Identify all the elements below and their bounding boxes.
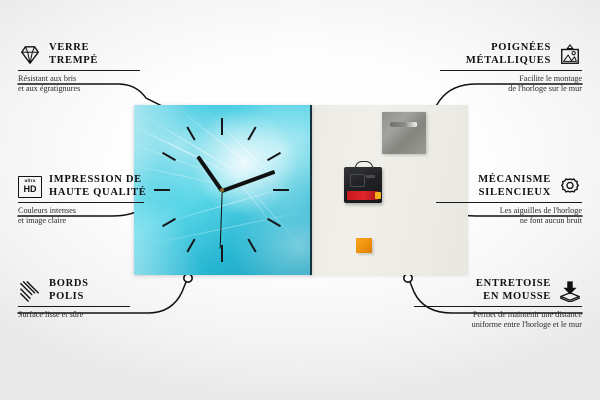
callout-mecanisme-silencieux: MÉCANISME SILENCIEUX Les aiguilles de l'…	[436, 174, 582, 226]
callout-title-line: POLIS	[49, 291, 89, 304]
callout-bords-polis: BORDS POLIS Surface lisse et sûre	[18, 278, 130, 320]
callout-description-line: Permet de maintenir une distance	[414, 310, 582, 320]
clock-mechanism	[344, 167, 382, 203]
foam-spacer	[356, 238, 372, 253]
mechanism-label	[366, 175, 375, 178]
ultra-hd-main-label: HD	[24, 185, 37, 194]
callout-rule	[18, 306, 130, 307]
callout-title-line: BORDS	[49, 278, 89, 291]
callout-description-line: Surface lisse et sûre	[18, 310, 130, 320]
hour-marker	[221, 118, 223, 135]
callout-title-line: IMPRESSION DE	[49, 174, 147, 187]
callout-entretoise-en-mousse: ENTRETOISE EN MOUSSE Permet de maintenir…	[414, 278, 582, 330]
callout-title-line: TREMPÉ	[49, 55, 98, 68]
metal-hanger-plate	[382, 112, 426, 154]
hanger-slot	[390, 122, 417, 127]
callout-title-line: VERRE	[49, 42, 98, 55]
callout-description-line: uniforme entre l'horloge et le mur	[414, 320, 582, 330]
callout-title-line: HAUTE QUALITÉ	[49, 187, 147, 200]
callout-rule	[18, 70, 140, 71]
battery	[347, 191, 378, 200]
callout-description-line: Facilite le montage	[440, 74, 582, 84]
callout-title-line: MÉCANISME	[478, 174, 551, 187]
ultra-hd-icon: ultra HD	[18, 176, 42, 198]
foam-spacer-arrow-icon	[558, 280, 582, 302]
diamond-icon	[18, 44, 42, 66]
callout-description-line: et image claire	[18, 216, 147, 226]
gear-icon	[558, 176, 582, 198]
callout-title-line: POIGNÉES	[466, 42, 551, 55]
mechanism-dial	[350, 174, 365, 187]
battery-plus-terminal	[375, 192, 381, 199]
callout-title-line: SILENCIEUX	[478, 187, 551, 200]
clock-pivot	[220, 188, 224, 192]
callout-verre-trempe: VERRE TREMPÉ Résistant aux bris et aux é…	[18, 42, 140, 94]
callout-rule	[18, 202, 144, 203]
callout-description-line: Couleurs intenses	[18, 206, 147, 216]
mechanism-hook	[355, 161, 373, 170]
callout-title-line: EN MOUSSE	[476, 291, 551, 304]
node-bords-polis	[184, 274, 192, 282]
polished-edges-icon	[18, 280, 42, 302]
callout-description-line: Résistant aux bris	[18, 74, 140, 84]
picture-frame-hanger-icon	[558, 44, 582, 66]
callout-description-line: de l'horloge sur le mur	[440, 84, 582, 94]
callout-description-line: et aux égratignures	[18, 84, 140, 94]
infographic-stage: VERRE TREMPÉ Résistant aux bris et aux é…	[0, 0, 600, 400]
callout-description-line: ne font aucun bruit	[436, 216, 582, 226]
clock-glass-face	[134, 105, 312, 275]
callout-rule	[440, 70, 582, 71]
hour-marker	[186, 239, 195, 253]
callout-rule	[436, 202, 582, 203]
node-entretoise	[404, 274, 412, 282]
callout-poignees-metalliques: POIGNÉES MÉTALLIQUES Facilite le montage…	[440, 42, 582, 94]
callout-rule	[414, 306, 582, 307]
hour-marker	[273, 189, 289, 191]
callout-title-line: ENTRETOISE	[476, 278, 551, 291]
hour-marker	[221, 245, 223, 262]
callout-impression-haute-qualite: ultra HD IMPRESSION DE HAUTE QUALITÉ Cou…	[18, 174, 147, 226]
callout-title-line: MÉTALLIQUES	[466, 55, 551, 68]
product-image	[134, 105, 468, 275]
callout-description-line: Les aiguilles de l'horloge	[436, 206, 582, 216]
hour-marker	[154, 189, 170, 191]
